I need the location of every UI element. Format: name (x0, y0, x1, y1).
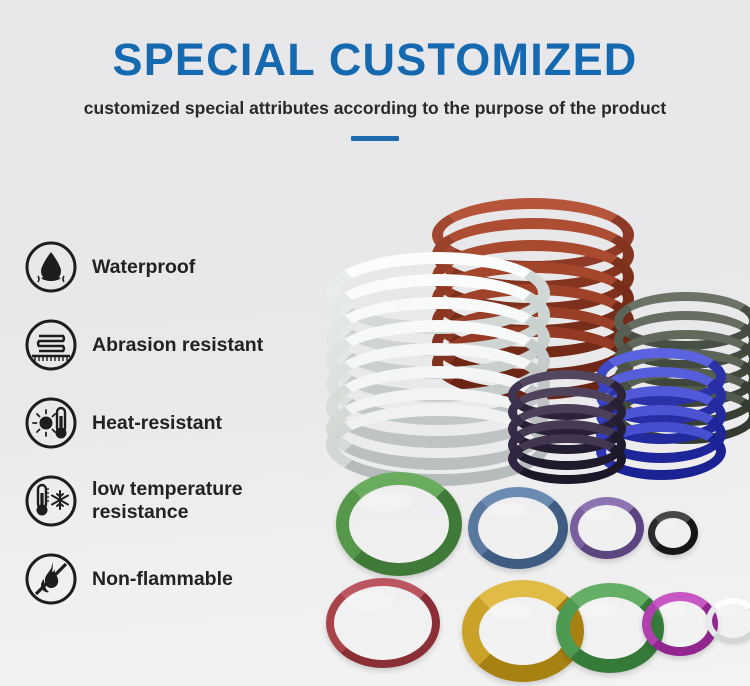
page-title: SPECIAL CUSTOMIZED (0, 0, 750, 82)
special-customized-banner: SPECIAL CUSTOMIZED customized special at… (0, 0, 750, 686)
feature-label: Non-flammable (92, 568, 233, 591)
feature-label: Abrasion resistant (92, 334, 263, 357)
snowflake-thermometer-icon (24, 474, 78, 528)
steel-blue-oring (468, 487, 568, 569)
dark-purple-oring-coil-stack (508, 370, 618, 466)
translucent-oring-coil-stack (326, 252, 542, 462)
sun-thermometer-icon (24, 396, 78, 450)
dark-red-oring (326, 578, 440, 668)
feature-item-non-flammable: Non-flammable (24, 540, 324, 618)
black-oring (648, 511, 698, 555)
feature-label: Heat-resistant (92, 412, 222, 435)
feature-item-low-temperature-resistance: low temperature resistance (24, 462, 324, 540)
feature-item-waterproof: Waterproof (24, 228, 324, 306)
brown-oring-coil-stack (432, 198, 628, 388)
feature-label: low temperature resistance (92, 478, 243, 523)
feature-item-abrasion-resistant: Abrasion resistant (24, 306, 324, 384)
no-flame-icon (24, 552, 78, 606)
abrasion-icon (24, 318, 78, 372)
clear-oring (706, 598, 750, 644)
feature-item-heat-resistant: Heat-resistant (24, 384, 324, 462)
feature-list: Waterproof Abrasion resist (24, 228, 324, 618)
green-oring (336, 472, 462, 576)
accent-divider (351, 136, 399, 141)
blue-oring-coil-stack (596, 348, 718, 464)
gray-green-oring-coil-stack (614, 292, 750, 432)
page-subtitle: customized special attributes according … (0, 82, 750, 120)
feature-label: Waterproof (92, 256, 195, 279)
water-drop-icon (24, 240, 78, 294)
magenta-oring (642, 592, 718, 656)
header: SPECIAL CUSTOMIZED customized special at… (0, 0, 750, 141)
golden-oring (462, 580, 584, 682)
purple-oring (570, 497, 644, 559)
green-small-oring (556, 583, 664, 673)
